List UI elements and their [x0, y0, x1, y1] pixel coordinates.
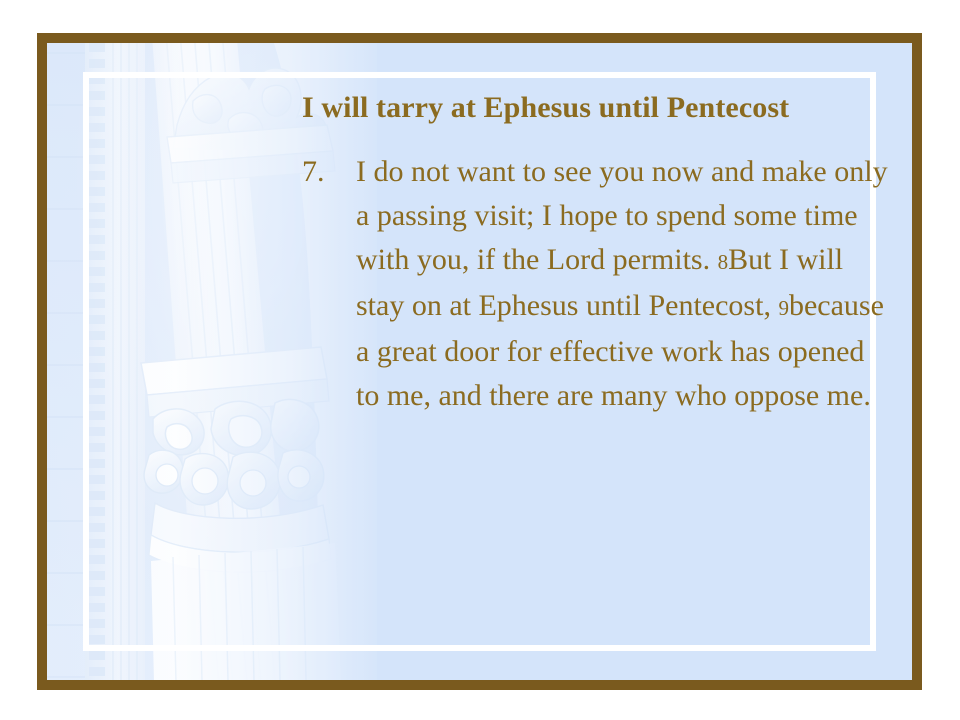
bullet-number: 7. [302, 150, 356, 194]
slide-content: I will tarry at Ephesus until Pentecost … [302, 88, 892, 418]
slide-brown-frame: I will tarry at Ephesus until Pentecost … [37, 33, 922, 690]
verse-number: 8 [718, 250, 729, 274]
bullet-body-text: I do not want to see you now and make on… [356, 150, 892, 418]
slide: I will tarry at Ephesus until Pentecost … [0, 0, 960, 720]
bullet-item: 7. I do not want to see you now and make… [302, 150, 892, 418]
slide-title: I will tarry at Ephesus until Pentecost [302, 88, 822, 128]
verse-number: 9 [778, 296, 789, 320]
